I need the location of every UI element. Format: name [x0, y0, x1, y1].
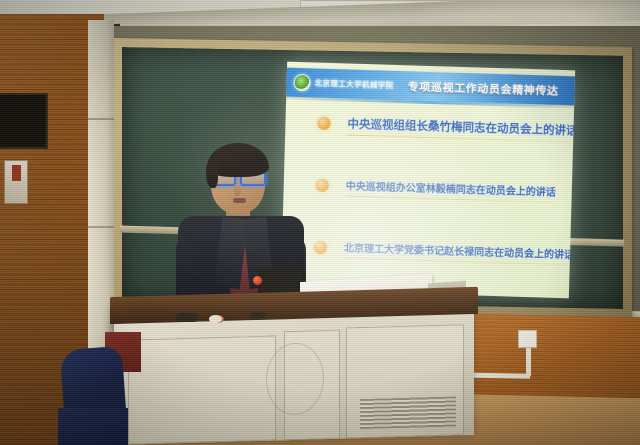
wall-sign-mark: [12, 165, 21, 181]
microphone-base: [250, 312, 266, 318]
microphone-icon: [253, 276, 262, 285]
slide-bullet-item: 中央巡视组办公室林毅楠同志在动员会上的讲话: [315, 177, 572, 231]
podium: [114, 300, 474, 445]
presentation-slide: 北京理工大学机械学院 专项巡视工作动员会精神传达 中央巡视组组长桑竹梅同志在动员…: [281, 62, 575, 299]
podium-panel: [128, 335, 276, 444]
slide-header-banner: 北京理工大学机械学院 专项巡视工作动员会精神传达: [286, 68, 575, 106]
speaker-mouth: [233, 198, 246, 203]
lecture-hall-photo: 北京理工大学机械学院 专项巡视工作动员会精神传达 中央巡视组组长桑竹梅同志在动员…: [0, 0, 640, 445]
university-emblem-icon: [293, 74, 310, 92]
podium-vent-grille: [360, 396, 456, 429]
pilaster-joint: [88, 226, 114, 228]
projection-screen: 北京理工大学机械学院 专项巡视工作动员会精神传达 中央巡视组组长桑竹梅同志在动员…: [281, 62, 575, 299]
bullet-dot-icon: [317, 117, 330, 130]
speaker-nose: [234, 184, 241, 196]
desk-object-light: [209, 315, 222, 323]
slide-bullet-item: 中央巡视组组长桑竹梅同志在动员会上的讲话: [316, 115, 573, 169]
pilaster-joint: [88, 118, 114, 120]
speaker-hair-side: [206, 158, 218, 188]
slide-title: 专项巡视工作动员会精神传达: [408, 78, 559, 99]
chair-seat: [58, 408, 128, 445]
slide-bullet-list: 中央巡视组组长桑竹梅同志在动员会上的讲话 中央巡视组办公室林毅楠同志在动员会上的…: [281, 102, 574, 293]
wall-speaker-panel: [0, 93, 48, 149]
slide-logo-text: 北京理工大学机械学院: [314, 78, 393, 91]
desk-object-dark: [176, 313, 198, 322]
wall-sign: [4, 160, 28, 204]
wall-outlet-box: [518, 330, 537, 348]
bullet-dot-icon: [314, 241, 327, 254]
bullet-dot-icon: [316, 179, 329, 192]
